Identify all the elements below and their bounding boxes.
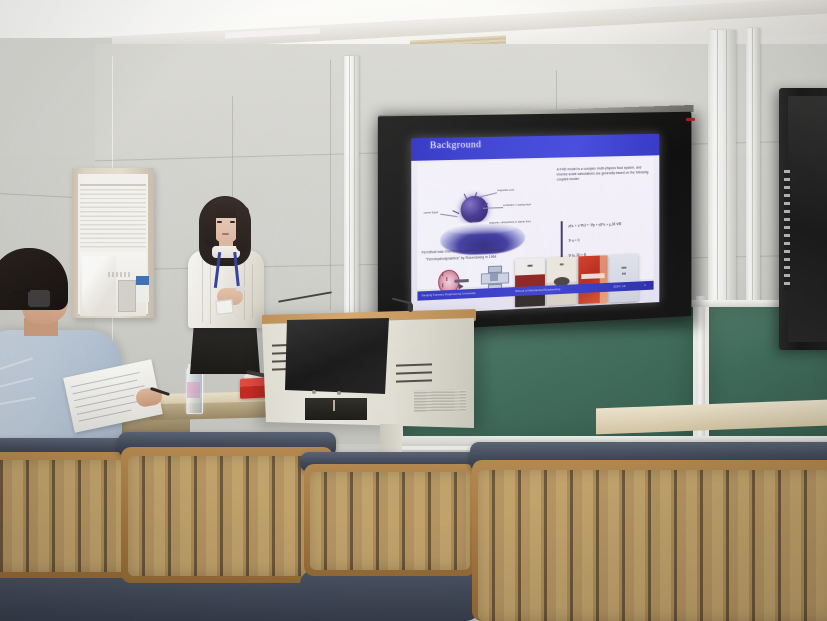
lectern-knob[interactable] <box>312 390 316 394</box>
lectern-drawer[interactable] <box>305 398 367 420</box>
callout-line <box>479 192 497 197</box>
presenter-eye <box>230 221 235 223</box>
ac-brand-mark <box>108 272 130 277</box>
bottle-label <box>187 382 200 398</box>
presenter-hair-right <box>236 206 249 252</box>
secondary-wall-display[interactable] <box>779 88 827 350</box>
secondary-display-screen <box>788 96 827 342</box>
display-button-strip-icon[interactable] <box>784 170 790 290</box>
callout-line <box>440 214 457 217</box>
slide-paragraph: A FHD model is a complex multi-physics f… <box>557 165 650 182</box>
microphone-head-icon <box>408 303 413 312</box>
slide-title: Background <box>430 140 482 151</box>
callout-label: magnetite core <box>497 189 514 193</box>
nanoparticle-icon <box>461 195 488 223</box>
callout-line <box>483 207 503 209</box>
slide-canvas: Background magnetite core surfactant / c… <box>411 134 659 315</box>
ac-energy-label-icon <box>136 276 149 302</box>
ac-grille-icon <box>118 280 136 312</box>
presentation-remote[interactable] <box>236 286 245 291</box>
equation-line: ∇·u = 0 <box>569 238 580 242</box>
slide-body: magnetite core surfactant / coating laye… <box>417 157 653 289</box>
ac-louvers-icon <box>80 184 146 250</box>
callout-label: carrier liquid <box>424 211 439 215</box>
equation-line: ρ(uᵢ + u·∇u) = -∇p + η∇²u + μ₀M·∇H <box>569 222 622 228</box>
presenter-eye <box>217 221 222 223</box>
seminar-room-photo: Background magnetite core surfactant / c… <box>0 0 827 621</box>
ac-curve <box>82 256 116 316</box>
name-badge <box>215 299 233 315</box>
slide-footer-right: 2024 / 10 <box>613 284 625 288</box>
lectern-key-icon[interactable] <box>333 400 335 411</box>
slide-page-number: 4 <box>644 283 646 287</box>
lectern-control-panel[interactable] <box>285 318 389 394</box>
slide-footer-left: Nanjing Forestry Engineering University <box>422 290 476 297</box>
presenter-skirt <box>190 322 260 374</box>
book-cover <box>578 255 607 304</box>
seal-shaft <box>454 279 468 283</box>
presenter-hair-left <box>204 206 216 246</box>
wall-pilaster <box>746 28 760 328</box>
wall-pilaster <box>708 30 736 330</box>
display-power-led-icon <box>686 118 695 121</box>
wall-seam <box>330 60 331 310</box>
slide-footer-center: School of Mechanical Engineering <box>515 287 560 293</box>
lectern-knob[interactable] <box>337 391 341 395</box>
wall-pilaster <box>344 56 359 316</box>
book-cover: ▮▮▮ <box>547 256 577 305</box>
chair[interactable] <box>470 440 827 621</box>
main-presentation-screen[interactable]: Background magnetite core surfactant / c… <box>378 112 692 333</box>
presenter-mouth <box>222 233 229 235</box>
callout-label: surfactant / coating layer <box>503 203 531 208</box>
lectern-speaker-grille-icon <box>414 390 466 413</box>
book-cover: ▮▮▮▮ ▮▮▮ <box>609 254 638 303</box>
air-conditioner-unit <box>72 168 154 318</box>
figure-label: magnetic nanoparticle in carrier fluid <box>489 220 531 225</box>
chair[interactable] <box>300 452 480 621</box>
book-cover: ▮▮▮▮ <box>515 258 545 307</box>
